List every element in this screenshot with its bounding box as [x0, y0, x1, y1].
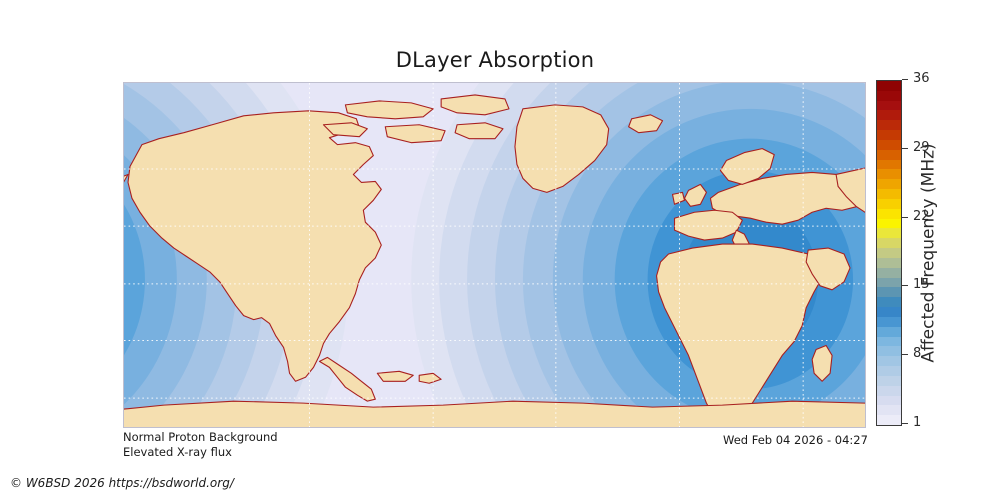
colorbar-segment	[877, 297, 901, 307]
colorbar-segment	[877, 101, 901, 111]
colorbar-tick-mark	[902, 148, 908, 149]
colorbar-segment	[877, 268, 901, 278]
colorbar-segment	[877, 307, 901, 317]
page-title: DLayer Absorption	[0, 48, 990, 72]
colorbar-segment	[877, 199, 901, 209]
colorbar-segment	[877, 238, 901, 248]
colorbar-tick-mark	[902, 354, 908, 355]
colorbar-segment	[877, 228, 901, 238]
colorbar-segment	[877, 110, 901, 120]
status-note-proton: Normal Proton Background	[123, 430, 278, 444]
status-note-xray: Elevated X-ray flux	[123, 445, 232, 459]
colorbar-segment	[877, 405, 901, 415]
timestamp: Wed Feb 04 2026 - 04:27	[723, 433, 868, 447]
copyright-footer: © W6BSD 2026 https://bsdworld.org/	[10, 476, 234, 490]
colorbar-segment	[877, 120, 901, 130]
colorbar-segment	[877, 160, 901, 170]
colorbar-segment	[877, 415, 901, 425]
colorbar-tick-mark	[902, 285, 908, 286]
colorbar-segment	[877, 248, 901, 258]
colorbar-segment	[877, 258, 901, 268]
colorbar-segment	[877, 287, 901, 297]
colorbar-segment	[877, 356, 901, 366]
colorbar-segment	[877, 140, 901, 150]
colorbar-segment	[877, 150, 901, 160]
colorbar-segment	[877, 396, 901, 406]
colorbar-segment	[877, 81, 901, 91]
colorbar-segment	[877, 346, 901, 356]
colorbar-segment	[877, 317, 901, 327]
colorbar-title: Affected Frequency (MHz)	[916, 80, 942, 426]
colorbar-segment	[877, 130, 901, 140]
graticule-layer	[124, 83, 865, 427]
colorbar-tick-mark	[902, 79, 908, 80]
dlayer-absorption-page: DLayer Absorption	[0, 0, 1000, 500]
colorbar-segment	[877, 189, 901, 199]
colorbar-segment	[877, 209, 901, 219]
colorbar-segment	[877, 169, 901, 179]
colorbar-gradient	[876, 80, 902, 426]
colorbar-segment	[877, 366, 901, 376]
colorbar-segment	[877, 386, 901, 396]
colorbar-segment	[877, 337, 901, 347]
colorbar-segment	[877, 219, 901, 229]
colorbar-segment	[877, 179, 901, 189]
colorbar-title-text: Affected Frequency (MHz)	[919, 143, 939, 362]
world-map[interactable]	[123, 82, 866, 428]
colorbar-segment	[877, 376, 901, 386]
colorbar-segment	[877, 91, 901, 101]
colorbar-segment	[877, 327, 901, 337]
colorbar-tick-mark	[902, 423, 908, 424]
colorbar-segment	[877, 278, 901, 288]
colorbar-tick-mark	[902, 217, 908, 218]
colorbar: 3629221581 Max	[876, 80, 902, 426]
